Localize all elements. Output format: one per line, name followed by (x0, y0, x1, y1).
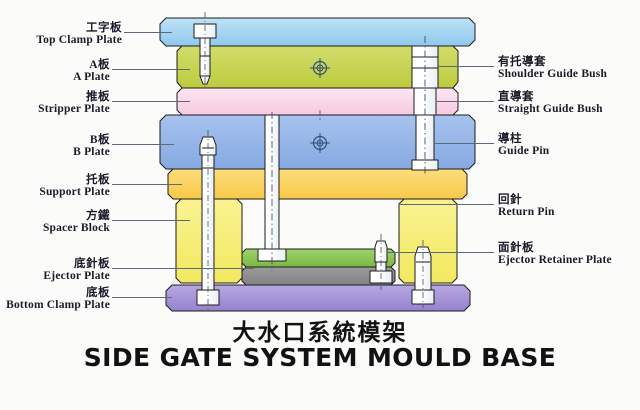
leader-straight-guide-bush (437, 101, 494, 102)
leader-b-plate (112, 144, 174, 145)
label-return-pin-cn: 回針 (498, 194, 555, 206)
leader-top-clamp-plate (124, 32, 172, 33)
label-support-plate-cn: 托板 (39, 174, 110, 186)
leader-spacer-block (112, 220, 190, 221)
label-spacer-block: 方鐵 Spacer Block (43, 210, 110, 234)
leader-bottom-clamp-plate (112, 297, 172, 298)
label-b-plate-en: B Plate (73, 146, 110, 158)
label-shoulder-guide-bush: 有托導套 Shoulder Guide Bush (498, 56, 607, 80)
label-straight-guide-bush-cn: 直導套 (498, 91, 603, 103)
diagram-page: 工字板 Top Clamp Plate A板 A Plate 推板 Stripp… (0, 0, 640, 410)
label-guide-pin-cn: 導柱 (498, 133, 549, 145)
label-ejector-plate-en: Ejector Plate (43, 270, 110, 282)
leader-ejector-retainer-plate (388, 252, 494, 253)
leader-shoulder-guide-bush (438, 66, 494, 67)
label-support-plate: 托板 Support Plate (39, 174, 110, 198)
title-chinese: 大水口系統模架 (0, 313, 640, 347)
label-b-plate-cn: B板 (73, 134, 110, 146)
label-bottom-clamp-plate-cn: 底板 (6, 287, 110, 299)
leader-a-plate (112, 69, 190, 70)
label-stripper-plate-cn: 推板 (38, 91, 110, 103)
label-spacer-block-cn: 方鐵 (43, 210, 110, 222)
label-bottom-clamp-plate-en: Bottom Clamp Plate (6, 299, 110, 311)
label-b-plate: B板 B Plate (73, 134, 110, 158)
title-english: SIDE GATE SYSTEM MOULD BASE (0, 343, 640, 372)
label-shoulder-guide-bush-en: Shoulder Guide Bush (498, 68, 607, 80)
label-guide-pin-en: Guide Pin (498, 145, 549, 157)
label-straight-guide-bush: 直導套 Straight Guide Bush (498, 91, 603, 115)
label-ejector-plate: 底針板 Ejector Plate (43, 258, 110, 282)
label-ejector-retainer-plate-en: Ejector Retainer Plate (498, 254, 612, 266)
label-top-clamp-plate: 工字板 Top Clamp Plate (36, 22, 122, 46)
label-return-pin-en: Return Pin (498, 206, 555, 218)
label-straight-guide-bush-en: Straight Guide Bush (498, 103, 603, 115)
leader-return-pin (400, 204, 494, 205)
leader-ejector-plate (112, 268, 254, 269)
label-stripper-plate: 推板 Stripper Plate (38, 91, 110, 115)
label-ejector-retainer-plate-cn: 面針板 (498, 242, 612, 254)
label-shoulder-guide-bush-cn: 有托導套 (498, 56, 607, 68)
label-a-plate-cn: A板 (73, 59, 110, 71)
label-ejector-plate-cn: 底針板 (43, 258, 110, 270)
label-top-clamp-plate-cn: 工字板 (36, 22, 122, 34)
label-a-plate: A板 A Plate (73, 59, 110, 83)
label-ejector-retainer-plate: 面針板 Ejector Retainer Plate (498, 242, 612, 266)
leader-guide-pin (434, 143, 494, 144)
label-spacer-block-en: Spacer Block (43, 222, 110, 234)
leader-support-plate (112, 184, 182, 185)
leader-stripper-plate (112, 101, 190, 102)
label-support-plate-en: Support Plate (39, 186, 110, 198)
label-bottom-clamp-plate: 底板 Bottom Clamp Plate (6, 287, 110, 311)
label-stripper-plate-en: Stripper Plate (38, 103, 110, 115)
label-a-plate-en: A Plate (73, 71, 110, 83)
label-top-clamp-plate-en: Top Clamp Plate (36, 34, 122, 46)
label-return-pin: 回針 Return Pin (498, 194, 555, 218)
label-guide-pin: 導柱 Guide Pin (498, 133, 549, 157)
